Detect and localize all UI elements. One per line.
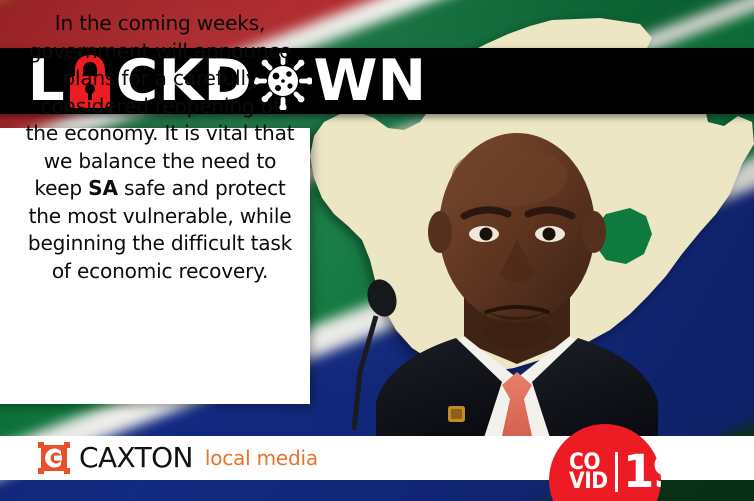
quote-line-10: of economic recovery. <box>52 259 268 283</box>
caxton-tagline: local media <box>205 443 318 473</box>
letter-W: W <box>313 53 377 109</box>
quote-line-5: the economy. It is vital that <box>26 121 295 145</box>
quote-line-9: beginning the difficult task <box>28 231 292 255</box>
covid-19-badge-content: CO VID 19 <box>569 451 661 493</box>
quote-line-2: government will announce <box>29 39 292 63</box>
quote-emphasis-sa: SA <box>88 176 118 200</box>
quote-line-7-suffix: safe and protect <box>118 176 286 200</box>
covid-year-number: 19 <box>623 451 661 493</box>
covid-word: CO VID <box>569 453 611 491</box>
covid-word-line-2: VID <box>569 472 608 491</box>
caxton-local-media-logo[interactable]: CAXTON local media <box>38 441 318 475</box>
quote-line-6: we balance the need to <box>44 149 276 173</box>
quote-line-7-prefix: keep <box>34 176 88 200</box>
lockdown-poster: L C K D <box>0 0 754 501</box>
quote-line-7: keep SA safe and protect <box>34 176 285 200</box>
quote-line-8: the most vulnerable, while <box>29 204 292 228</box>
president-portrait <box>352 120 682 450</box>
covid-separator-rule <box>615 452 618 492</box>
caxton-wordmark: CAXTON <box>79 443 193 473</box>
letter-N: N <box>377 53 426 109</box>
caxton-c-mark-icon <box>38 442 70 474</box>
quote-line-4: considered reopening of <box>40 94 279 118</box>
quote-statement: In the coming weeks, government will ann… <box>12 10 308 285</box>
quote-line-1: In the coming weeks, <box>55 11 265 35</box>
quote-line-3: plans for a carefully <box>62 66 257 90</box>
